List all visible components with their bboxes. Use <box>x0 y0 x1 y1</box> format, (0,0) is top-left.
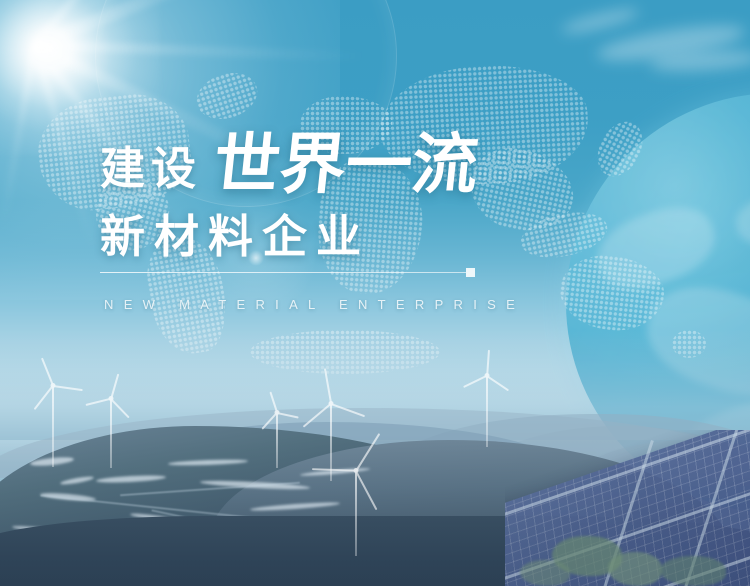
headline-prefix: 建设 <box>100 146 202 197</box>
divider-end-cap <box>466 268 475 277</box>
banner-hero: 建设 世界一流 新材料企业 NEW MATERIAL ENTERPRISE <box>0 0 750 586</box>
wind-turbine-5 <box>486 375 488 447</box>
wind-turbine-4 <box>355 470 357 556</box>
shrub <box>608 552 662 586</box>
headline-emphasis: 世界一流 <box>211 131 482 197</box>
wind-turbine-2 <box>110 398 112 468</box>
shrub <box>520 560 570 586</box>
subtitle-english: NEW MATERIAL ENTERPRISE <box>104 297 525 312</box>
headline-block: 建设 世界一流 新材料企业 NEW MATERIAL ENTERPRISE <box>0 0 750 340</box>
wind-turbine-1 <box>52 385 54 467</box>
shrub <box>660 556 726 586</box>
headline-line-1: 建设 世界一流 <box>100 131 478 197</box>
headline-line-2: 新材料企业 <box>100 214 370 259</box>
headline-divider <box>100 268 475 277</box>
wind-turbine-6 <box>276 412 278 468</box>
